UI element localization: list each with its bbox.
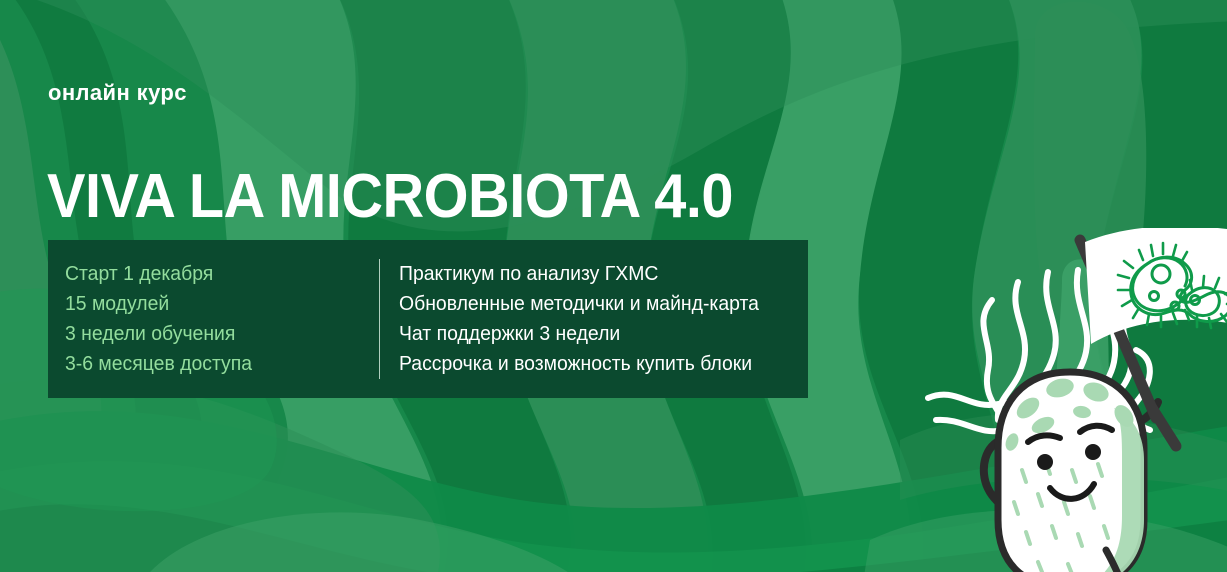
course-feature-item: Чат поддержки 3 недели [399,319,796,349]
left-eye [1037,454,1053,470]
flag [1085,228,1227,378]
mascot-body [998,372,1144,572]
course-eyebrow-label: онлайн курс [48,80,187,106]
course-fact-item: 3 недели обучения [65,319,370,349]
course-fact-item: Старт 1 декабря [65,259,370,289]
column-divider [379,259,380,379]
course-promo-banner: онлайн курс VIVA LA MICROBIOTA 4.0 Старт… [0,0,1227,572]
course-feature-item: Практикум по анализу ГХМС [399,259,796,289]
page-title: VIVA LA MICROBIOTA 4.0 [47,164,733,229]
course-details-box: Старт 1 декабря 15 модулей 3 недели обуч… [48,240,808,398]
course-fact-item: 3-6 месяцев доступа [65,349,370,379]
course-feature-item: Обновленные методички и майнд-карта [399,289,796,319]
flag-cloth [1085,228,1227,344]
flag-pole-lower [1152,408,1176,446]
course-fact-item: 15 модулей [65,289,370,319]
course-feature-item: Рассрочка и возможность купить блоки [399,349,796,379]
right-eye [1085,444,1101,460]
course-facts-column: Старт 1 декабря 15 модулей 3 недели обуч… [48,259,379,379]
course-features-column: Практикум по анализу ГХМС Обновленные ме… [380,259,808,379]
